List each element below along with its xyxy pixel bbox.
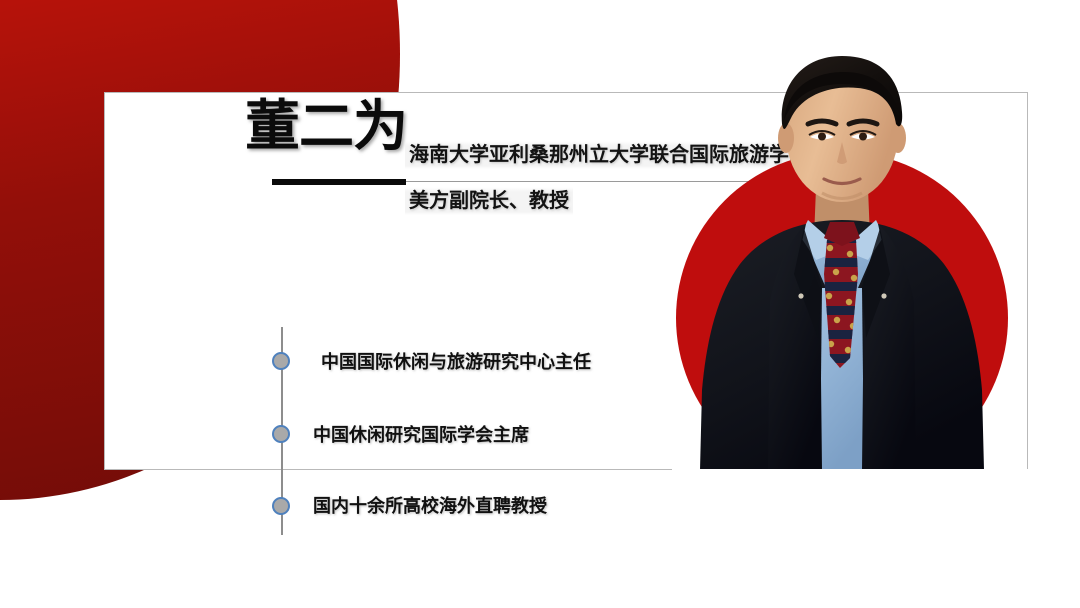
- organization-line-2: 美方副院长、教授: [405, 187, 573, 215]
- timeline-bullet-icon: [272, 352, 290, 370]
- timeline-bullet-icon: [272, 497, 290, 515]
- portrait-bottom-mask: [672, 469, 1028, 509]
- person-name: 董二为: [245, 98, 407, 156]
- timeline-bullet-icon: [272, 425, 290, 443]
- name-underline-bar: [272, 179, 406, 185]
- slide-canvas: 董二为 海南大学亚利桑那州立大学联合国际旅游学院 美方副院长、教授 中国国际休闲…: [0, 0, 1080, 608]
- list-item: 中国国际休闲与旅游研究中心主任: [321, 348, 591, 374]
- timeline-rail: [280, 327, 284, 535]
- list-item: 国内十余所高校海外直聘教授: [313, 492, 547, 518]
- portrait-group: [672, 38, 1012, 470]
- list-item: 中国休闲研究国际学会主席: [313, 421, 529, 447]
- portrait-photo: [672, 38, 1012, 470]
